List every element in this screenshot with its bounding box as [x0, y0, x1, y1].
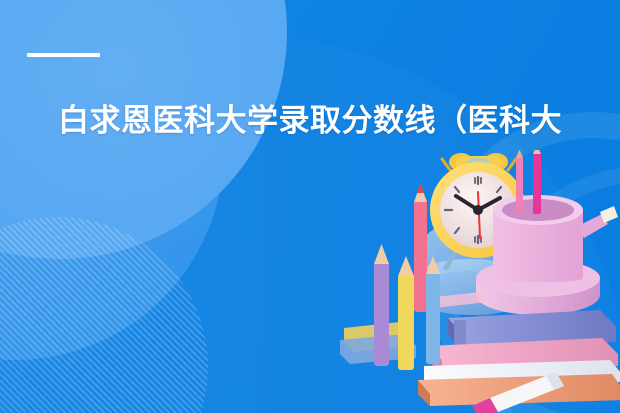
title-accent-dash [27, 53, 100, 57]
page-title: 白求恩医科大学录取分数线（医科大 [58, 103, 620, 140]
article-thumbnail-banner: 白求恩医科大学录取分数线（医科大 [0, 0, 620, 413]
stationery-illustration [330, 150, 620, 413]
